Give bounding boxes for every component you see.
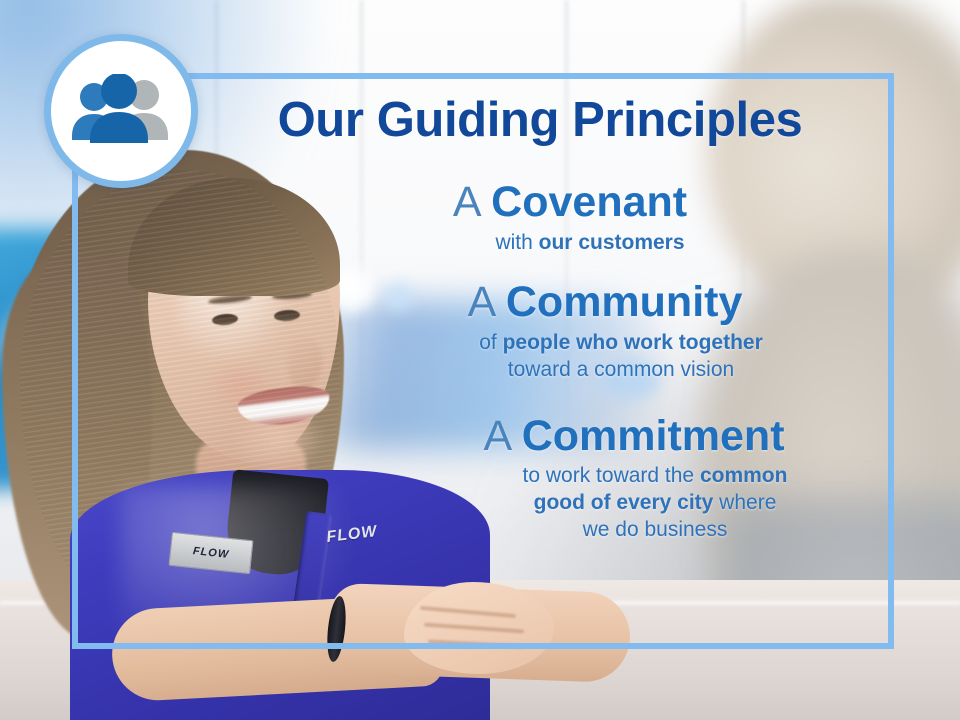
subtext-bold: people who work together [503, 331, 763, 354]
principle-heading: A Community [300, 280, 890, 326]
principle-keyword: Community [506, 278, 743, 326]
principle-covenant: A Covenant with our customers [300, 180, 890, 256]
subtext-regular: with [495, 231, 538, 254]
principles-list: A Covenant with our customers A Communit… [300, 178, 890, 560]
subtext-regular: where [713, 491, 776, 514]
subtext-bold: common [700, 464, 788, 487]
name-badge-text: FLOW [192, 545, 229, 561]
principle-heading: A Commitment [300, 414, 890, 460]
guiding-principles-graphic: FLOW FLOW Our Guiding Principles [0, 0, 960, 720]
people-group-icon-badge [44, 34, 198, 188]
principle-keyword: Covenant [491, 178, 687, 226]
subtext-regular: of [479, 331, 502, 354]
subtext-line-1: to work toward the common [420, 463, 890, 490]
principle-article: A [453, 178, 491, 226]
people-group-icon [69, 74, 173, 148]
principle-commitment: A Commitment to work toward the common g… [300, 414, 890, 544]
subtext-line: toward a common vision [352, 357, 890, 384]
subtext-line: of people who work together [352, 330, 890, 357]
principle-subtext: to work toward the common good of every … [300, 463, 890, 544]
principle-article: A [468, 278, 506, 326]
subtext-regular: to work toward the [523, 464, 700, 487]
subtext-bold: our customers [539, 231, 685, 254]
subtext-bold: good of every city [534, 491, 714, 514]
principle-article: A [483, 412, 521, 460]
principle-community: A Community of people who work together … [300, 280, 890, 383]
principle-subtext: of people who work together toward a com… [300, 330, 890, 384]
principle-heading: A Covenant [300, 180, 890, 226]
principle-subtext: with our customers [300, 230, 890, 257]
principle-keyword: Commitment [522, 412, 785, 460]
page-title: Our Guiding Principles [210, 96, 870, 145]
subtext-line-2: good of every city where [420, 490, 890, 517]
subtext-line-3: we do business [420, 517, 890, 544]
